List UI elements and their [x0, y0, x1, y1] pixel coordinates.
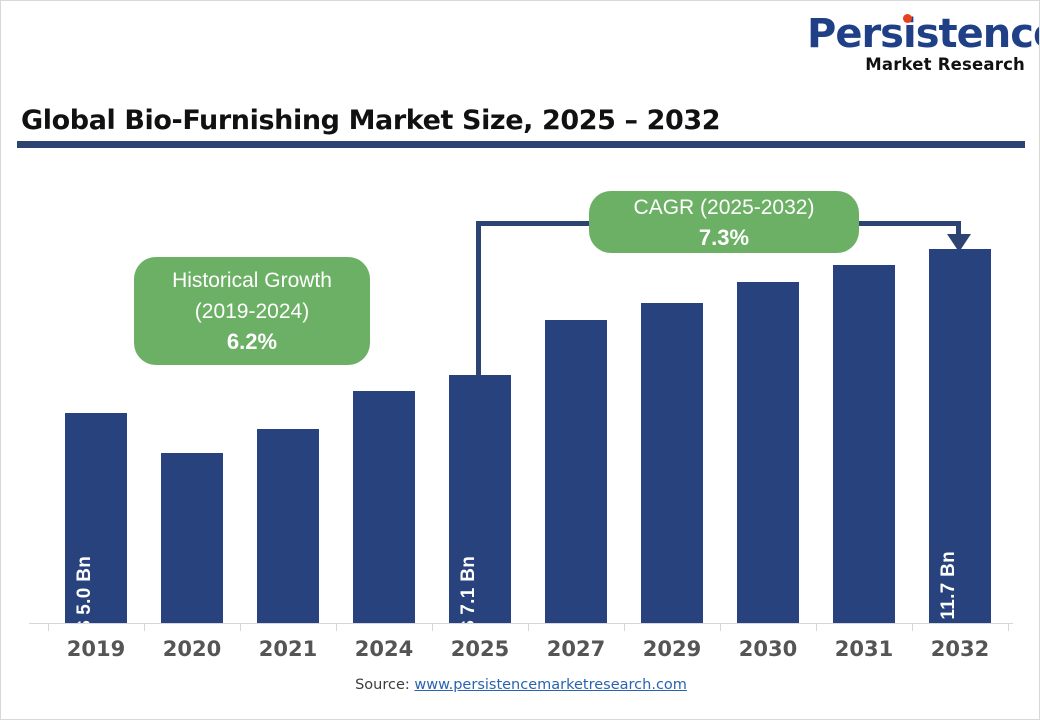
axis-tick: [336, 623, 337, 631]
x-axis-line: [29, 623, 1013, 624]
bar-2031: [833, 265, 895, 623]
x-axis-label-2025: 2025: [451, 637, 509, 661]
historical-growth-value: 6.2%: [227, 327, 277, 357]
chart-page: Persistence Market Research Global Bio-F…: [0, 0, 1040, 720]
x-axis-label-2032: 2032: [931, 637, 989, 661]
cagr-value: 7.3%: [699, 223, 749, 253]
axis-tick: [48, 623, 49, 631]
bar-2032: US$ 11.7 Bn: [929, 249, 991, 623]
x-axis-label-2031: 2031: [835, 637, 893, 661]
axis-tick: [816, 623, 817, 631]
bar-2025: US$ 7.1 Bn: [449, 375, 511, 623]
x-axis-label-2024: 2024: [355, 637, 413, 661]
cagr-connector-horizontal-left: [476, 221, 601, 226]
axis-tick: [1008, 623, 1009, 631]
axis-tick: [528, 623, 529, 631]
cagr-connector-horizontal-right: [851, 221, 961, 226]
axis-tick: [144, 623, 145, 631]
x-axis-label-2030: 2030: [739, 637, 797, 661]
axis-tick: [624, 623, 625, 631]
cagr-callout: CAGR (2025-2032) 7.3%: [589, 191, 859, 253]
bar-2021: [257, 429, 319, 623]
cagr-connector-vertical-left: [476, 221, 481, 376]
historical-growth-title: Historical Growth: [172, 265, 332, 296]
axis-tick: [912, 623, 913, 631]
bar-chart: US$ 5.0 Bn US$ 7.1 Bn US$ 11.7 Bn: [1, 1, 1040, 720]
x-axis-label-2019: 2019: [67, 637, 125, 661]
bar-2030: [737, 282, 799, 623]
x-axis-label-2027: 2027: [547, 637, 605, 661]
x-axis-label-2020: 2020: [163, 637, 221, 661]
cagr-arrow-head-icon: [946, 233, 972, 253]
source-footer: Source: www.persistencemarketresearch.co…: [1, 677, 1040, 693]
historical-growth-callout: Historical Growth (2019-2024) 6.2%: [134, 257, 370, 365]
source-link[interactable]: www.persistencemarketresearch.com: [414, 677, 687, 693]
historical-growth-period: (2019-2024): [195, 296, 309, 327]
x-axis-label-2029: 2029: [643, 637, 701, 661]
source-prefix-label: Source:: [355, 677, 414, 693]
axis-tick: [720, 623, 721, 631]
axis-tick: [432, 623, 433, 631]
bar-2029: [641, 303, 703, 623]
bar-2027: [545, 320, 607, 623]
bar-2020: [161, 453, 223, 623]
cagr-title: CAGR (2025-2032): [634, 192, 815, 223]
bar-2024: [353, 391, 415, 623]
x-axis-label-2021: 2021: [259, 637, 317, 661]
bar-2019: US$ 5.0 Bn: [65, 413, 127, 623]
axis-tick: [240, 623, 241, 631]
